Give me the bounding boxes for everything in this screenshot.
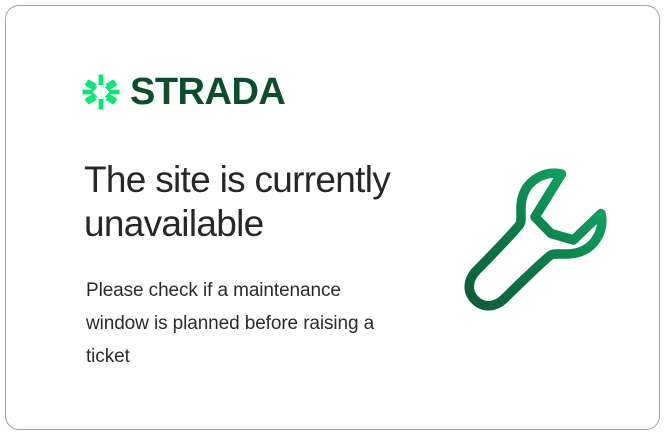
- page-root: STRADA The site is currently unavailable…: [0, 0, 666, 436]
- page-title: The site is currently unavailable: [84, 158, 414, 246]
- status-card: STRADA The site is currently unavailable…: [5, 5, 660, 430]
- strada-asterisk-icon: [81, 72, 121, 112]
- brand-lockup: STRADA: [81, 72, 285, 112]
- brand-wordmark: STRADA: [130, 73, 285, 111]
- wrench-icon: [461, 158, 616, 318]
- page-description: Please check if a maintenance window is …: [86, 274, 391, 373]
